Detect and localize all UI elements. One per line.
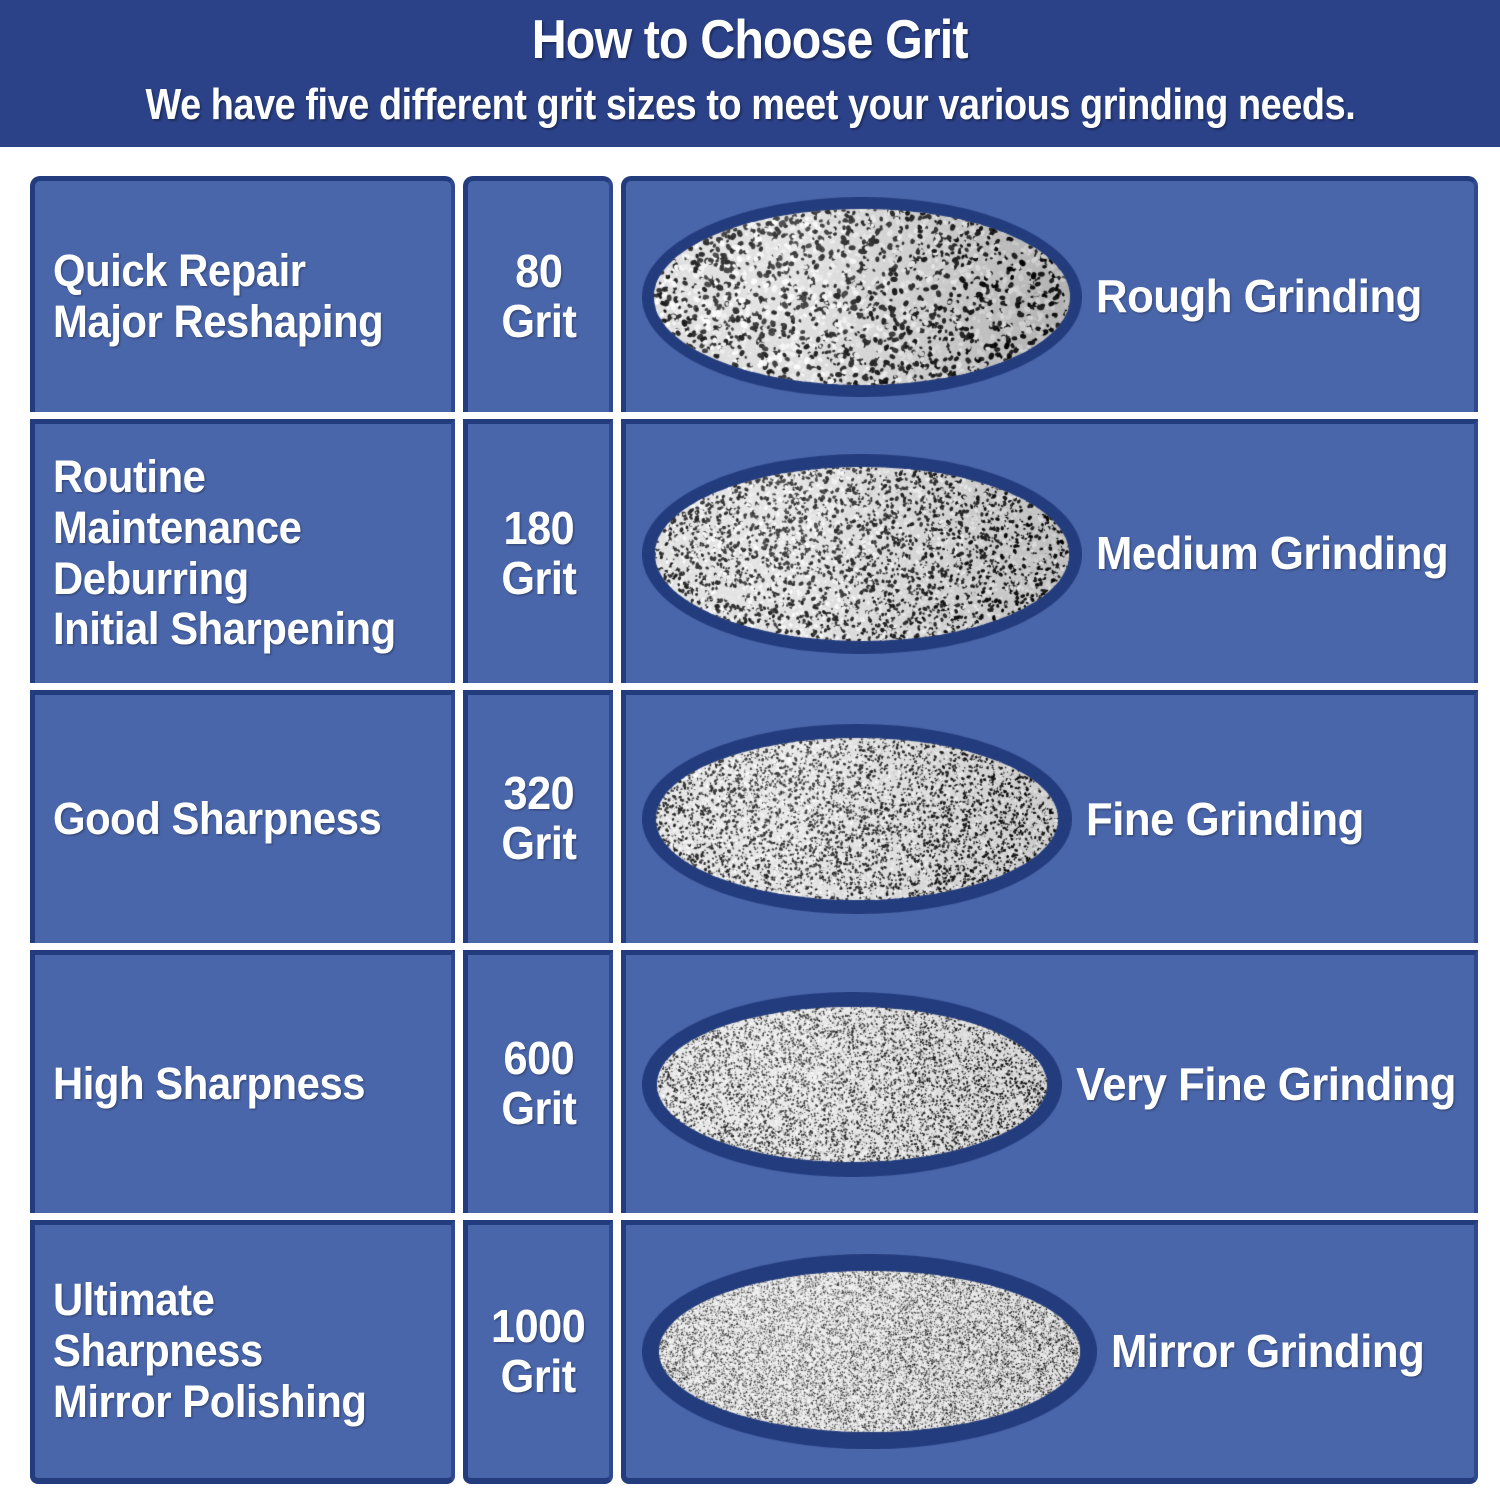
grit-size-cell: 180 Grit (463, 419, 613, 683)
grit-size-text: 600 Grit (501, 1034, 576, 1133)
grit-size-cell: 80 Grit (463, 176, 613, 412)
grit-size-cell: 1000 Grit (463, 1220, 613, 1484)
use-case-text: Routine Maintenance Deburring Initial Sh… (53, 452, 423, 655)
abrasive-grain-ellipse (642, 992, 1062, 1177)
page-header: How to Choose Grit We have five differen… (0, 0, 1500, 147)
grit-texture-swatch (642, 454, 1082, 654)
table-row: High Sharpness600 GritVery Fine Grinding (30, 950, 1478, 1213)
infographic-page: How to Choose Grit We have five differen… (0, 0, 1500, 1500)
abrasive-grain-ellipse (642, 1254, 1097, 1449)
table-row: Quick Repair Major Reshaping80 GritRough… (30, 176, 1478, 412)
grit-size-text: 1000 Grit (491, 1302, 585, 1401)
use-case-cell: Quick Repair Major Reshaping (30, 176, 455, 412)
use-case-cell: Ultimate Sharpness Mirror Polishing (30, 1220, 455, 1484)
use-case-cell: Routine Maintenance Deburring Initial Sh… (30, 419, 455, 683)
use-case-cell: Good Sharpness (30, 690, 455, 943)
grit-texture-swatch (642, 1254, 1097, 1449)
grinding-level-cell: Mirror Grinding (621, 1220, 1478, 1484)
use-case-text: Good Sharpness (53, 794, 381, 845)
grinding-level-label: Medium Grinding (1096, 529, 1448, 577)
grit-texture-swatch (642, 992, 1062, 1177)
grinding-level-cell: Medium Grinding (621, 419, 1478, 683)
grinding-level-label: Rough Grinding (1096, 272, 1422, 320)
page-subtitle: We have five different grit sizes to mee… (145, 83, 1355, 127)
table-row: Good Sharpness320 GritFine Grinding (30, 690, 1478, 943)
table-row: Ultimate Sharpness Mirror Polishing1000 … (30, 1220, 1478, 1484)
grinding-level-label: Mirror Grinding (1111, 1327, 1424, 1375)
abrasive-grain-ellipse (642, 454, 1082, 654)
grit-texture-swatch (642, 197, 1082, 397)
use-case-cell: High Sharpness (30, 950, 455, 1213)
page-title: How to Choose Grit (532, 12, 968, 67)
grinding-level-cell: Rough Grinding (621, 176, 1478, 412)
grit-size-text: 80 Grit (501, 247, 576, 346)
grinding-level-cell: Very Fine Grinding (621, 950, 1478, 1213)
grit-size-text: 180 Grit (501, 504, 576, 603)
abrasive-grain-ellipse (642, 197, 1082, 397)
use-case-text: Quick Repair Major Reshaping (53, 246, 383, 348)
grinding-level-label: Fine Grinding (1086, 795, 1364, 843)
grinding-level-label: Very Fine Grinding (1076, 1060, 1456, 1108)
table-row: Routine Maintenance Deburring Initial Sh… (30, 419, 1478, 683)
grit-size-cell: 600 Grit (463, 950, 613, 1213)
grit-comparison-table: Quick Repair Major Reshaping80 GritRough… (30, 176, 1478, 1484)
grinding-level-cell: Fine Grinding (621, 690, 1478, 943)
grit-size-text: 320 Grit (501, 769, 576, 868)
use-case-text: High Sharpness (53, 1059, 365, 1110)
abrasive-grain-ellipse (642, 724, 1072, 914)
grit-texture-swatch (642, 724, 1072, 914)
use-case-text: Ultimate Sharpness Mirror Polishing (53, 1275, 423, 1428)
grit-size-cell: 320 Grit (463, 690, 613, 943)
